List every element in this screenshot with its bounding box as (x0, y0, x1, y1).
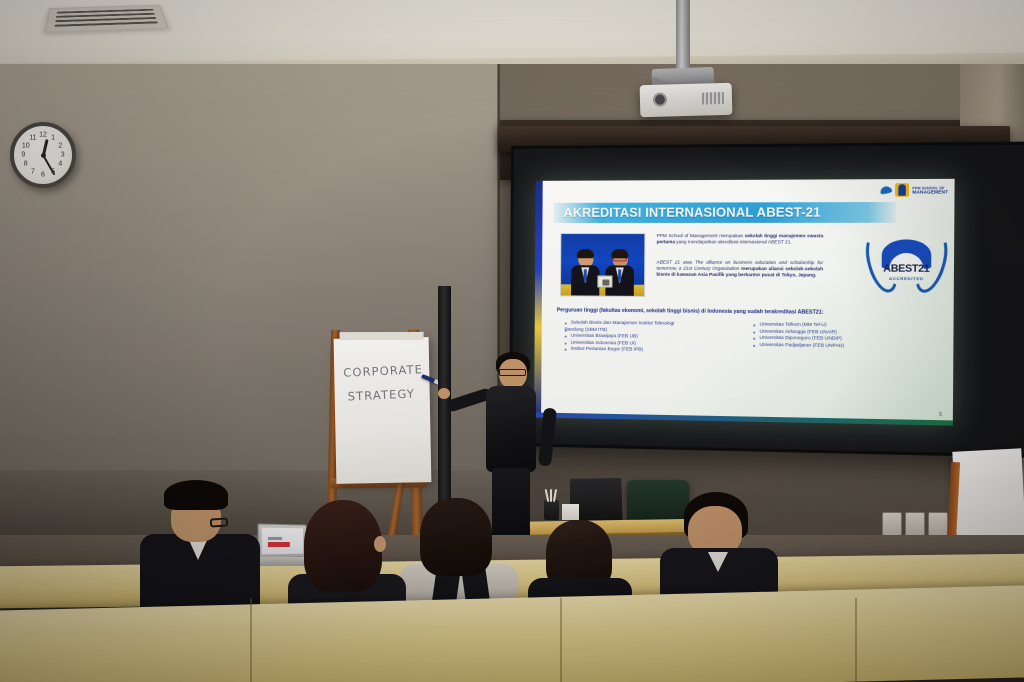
laptop-chart-bar (268, 537, 282, 540)
photo-award-plaque (597, 275, 612, 287)
seal-subtitle: ACCREDITED (868, 276, 946, 282)
photo-person-right (605, 250, 634, 296)
projector-mount-pole (676, 0, 690, 74)
projector-lens (653, 93, 667, 107)
clock-numeral: 9 (21, 152, 25, 159)
slide-title: AKREDITASI INTERNASIONAL ABEST-21 (563, 205, 820, 220)
slide-paragraph-1: PPM School of Management merupakan sekol… (657, 233, 824, 246)
list-item: Institut Pertanian Bogor (FEB IPB) (565, 346, 737, 355)
paragraph1-post: yang mendapatkan akreditasi internasiona… (675, 239, 792, 244)
power-outlet (928, 512, 948, 536)
presenter-glasses-icon (499, 369, 526, 376)
projection-screen: PPM SCHOOL OF MANAGEMENT AKREDITASI INTE… (509, 142, 1024, 458)
pen-holder (544, 500, 559, 520)
photo-person-left (571, 250, 600, 295)
photo-tie (618, 269, 621, 281)
projector-vent (702, 92, 724, 105)
swoosh-icon (879, 185, 892, 195)
clock-numeral: 2 (58, 142, 62, 149)
classroom-photo: 12 1 2 3 4 5 6 7 8 9 10 11 (0, 0, 1024, 682)
person-hair (164, 480, 228, 510)
flipchart-board: CORPORATE STRATEGY (334, 337, 432, 484)
list-item: Universitas Padjadjaran (FEB UNPAD) (753, 342, 932, 351)
slide-paragraph-2: ABEST 21 atau The alliance on business e… (656, 259, 823, 279)
photo-tie (584, 269, 587, 281)
clock-numeral: 8 (24, 161, 28, 168)
slide-page-number: 5 (939, 412, 942, 418)
person-ear (374, 536, 386, 552)
slide-list-heading: Perguruan tinggi (fakultas ekonomi, seko… (557, 307, 938, 316)
wall-power-outlets (882, 512, 948, 536)
university-list-right: Universitas Telkom (MM Tel-U) Universita… (753, 321, 932, 357)
presenter-hand (438, 388, 450, 399)
clock-numeral: 11 (29, 135, 36, 142)
ceiling-projector (640, 83, 733, 117)
photo-hair (611, 249, 628, 258)
slide-award-photo (560, 233, 646, 297)
laptop-chart-bar (268, 542, 290, 547)
clock-numeral: 6 (41, 171, 45, 178)
power-outlet (905, 512, 925, 536)
university-list-left: Sekolah Bisnis dan Manajemen Institut Te… (565, 320, 737, 355)
flipchart-text-line1: CORPORATE (343, 362, 423, 380)
clock-numeral: 7 (31, 168, 35, 175)
person-hair (304, 500, 382, 592)
presentation-slide: PPM SCHOOL OF MANAGEMENT AKREDITASI INTE… (534, 179, 955, 426)
presenter-torso (486, 386, 536, 472)
slide-title-banner: AKREDITASI INTERNASIONAL ABEST-21 (553, 202, 896, 223)
ppm-logo: PPM SCHOOL OF MANAGEMENT (880, 183, 948, 197)
ppm-logo-line2: MANAGEMENT (912, 190, 948, 194)
clock-numeral: 4 (58, 161, 62, 168)
table-seam (560, 598, 562, 682)
abest21-accreditation-seal: ABEST21 ACCREDITED (868, 229, 946, 298)
audience-woman-white-blazer (400, 498, 518, 612)
person-hair (420, 498, 492, 576)
paragraph1-pre: PPM School of Management merupakan (657, 233, 745, 238)
audience-man-suit-glasses (140, 482, 260, 607)
clock-numeral: 1 (51, 135, 55, 142)
audience-woman-laptop (288, 500, 406, 610)
clock-numeral: 3 (61, 152, 65, 159)
tissue-box (562, 504, 579, 520)
table-seam (855, 598, 857, 682)
wall-clock: 12 1 2 3 4 5 6 7 8 9 10 11 (10, 122, 76, 188)
photo-hair (577, 249, 594, 258)
air-conditioning-vent (44, 5, 169, 34)
clock-numeral: 12 (39, 132, 47, 139)
clock-center-pin (41, 153, 46, 158)
flipchart-text-line2: STRATEGY (347, 387, 415, 404)
photo-suit (571, 265, 599, 295)
clock-numeral: 10 (22, 142, 30, 149)
person-glasses-icon (210, 517, 229, 527)
flipchart-paper-top (340, 332, 424, 340)
slide-university-lists: Sekolah Bisnis dan Manajemen Institut Te… (565, 320, 941, 358)
power-outlet (882, 512, 902, 536)
seal-name: ABEST21 (868, 263, 946, 275)
table-seam (250, 598, 252, 682)
p-mark-icon (895, 183, 909, 197)
ppm-logo-text: PPM SCHOOL OF MANAGEMENT (912, 186, 948, 194)
